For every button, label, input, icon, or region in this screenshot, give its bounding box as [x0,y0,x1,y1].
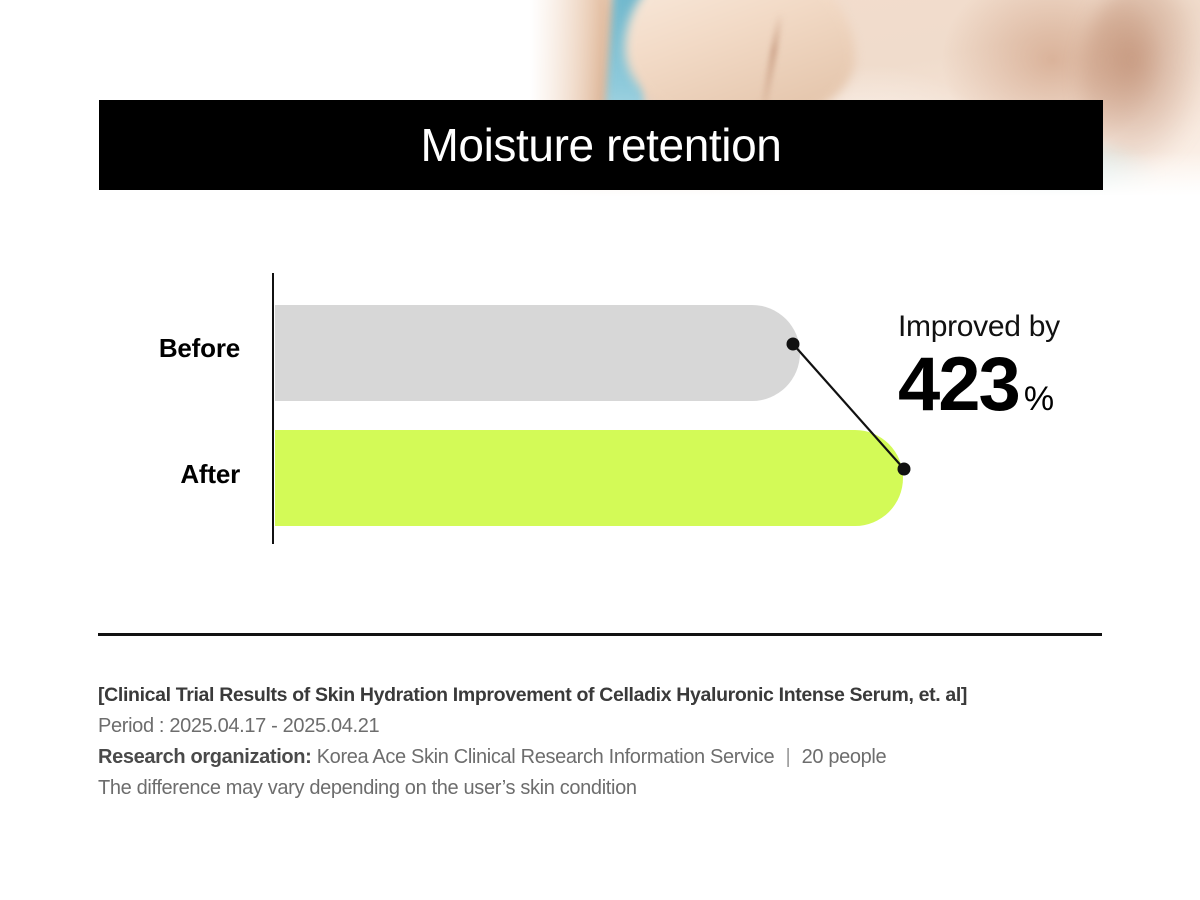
footnote-study-title: [Clinical Trial Results of Skin Hydratio… [98,680,1118,711]
footnote-disclaimer: The difference may vary depending on the… [98,773,1118,804]
title-banner: Moisture retention [99,100,1103,190]
callout-value-group: 423 % [898,347,1188,423]
bar-label-before: Before [40,333,240,364]
footnote-participants: 20 people [802,746,887,768]
bar-after [275,430,903,526]
callout-lead-text: Improved by [898,310,1188,343]
page-title: Moisture retention [421,122,782,168]
footnote-research-org-value: Korea Ace Skin Clinical Research Informa… [317,746,775,768]
chart-axis [272,273,274,544]
footnote-research-org-key: Research organization: [98,746,311,768]
callout-unit: % [1024,380,1054,419]
callout-number: 423 [898,347,1019,423]
infographic-page: Moisture retention Before After Improved… [0,0,1200,900]
improvement-callout: Improved by 423 % [898,310,1188,423]
bar-before [275,305,800,401]
footnote-research-org: Research organization: Korea Ace Skin Cl… [98,742,1118,773]
footnote-period: Period : 2025.04.17 - 2025.04.21 [98,711,1118,742]
section-divider [98,633,1102,636]
footnote-block: [Clinical Trial Results of Skin Hydratio… [98,680,1118,804]
bar-label-after: After [40,459,240,490]
footnote-separator: | [779,746,796,768]
